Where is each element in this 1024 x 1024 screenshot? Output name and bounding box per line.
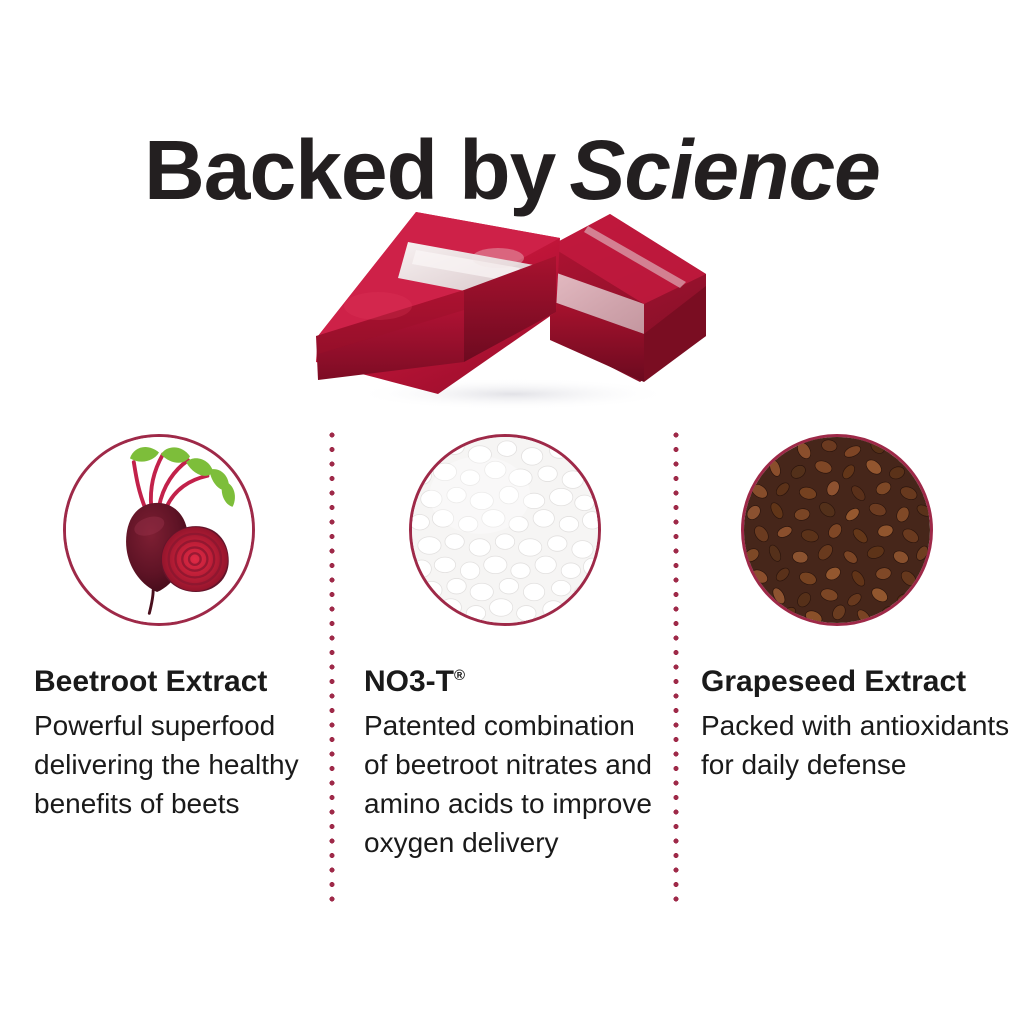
divider-left [329, 432, 335, 902]
ingredient-title-text: Beetroot Extract [34, 665, 267, 698]
gummy-block-front [316, 212, 560, 394]
ingredient-column-no3t: NO3-T® Patented combination of beetroot … [364, 663, 656, 862]
divider-right [673, 432, 679, 902]
ingredient-description-grapeseed: Packed with antioxidants for daily defen… [701, 706, 1013, 784]
gummy-block-back [550, 214, 706, 382]
backed-by-science-infographic: Backed byScience [0, 0, 1024, 1024]
ingredient-title-no3t: NO3-T® [364, 663, 656, 701]
beetroot-icon [63, 434, 255, 626]
ingredient-title-grapeseed: Grapeseed Extract [701, 663, 1013, 701]
ingredient-title-text: Grapeseed Extract [701, 665, 966, 698]
hero-product-image [288, 186, 718, 414]
registered-trademark-symbol: ® [454, 667, 465, 684]
ingredient-title-beetroot: Beetroot Extract [34, 663, 324, 701]
ingredient-title-text: NO3-T [364, 665, 454, 698]
grapeseed-icon [741, 434, 933, 626]
ingredient-column-grapeseed: Grapeseed Extract Packed with antioxidan… [701, 663, 1013, 784]
ingredient-description-no3t: Patented combination of beetroot nitrate… [364, 706, 656, 862]
ingredient-description-beetroot: Powerful superfood delivering the health… [34, 706, 324, 823]
ingredient-column-beetroot: Beetroot Extract Powerful superfood deli… [34, 663, 324, 823]
white-granules-icon [409, 434, 601, 626]
